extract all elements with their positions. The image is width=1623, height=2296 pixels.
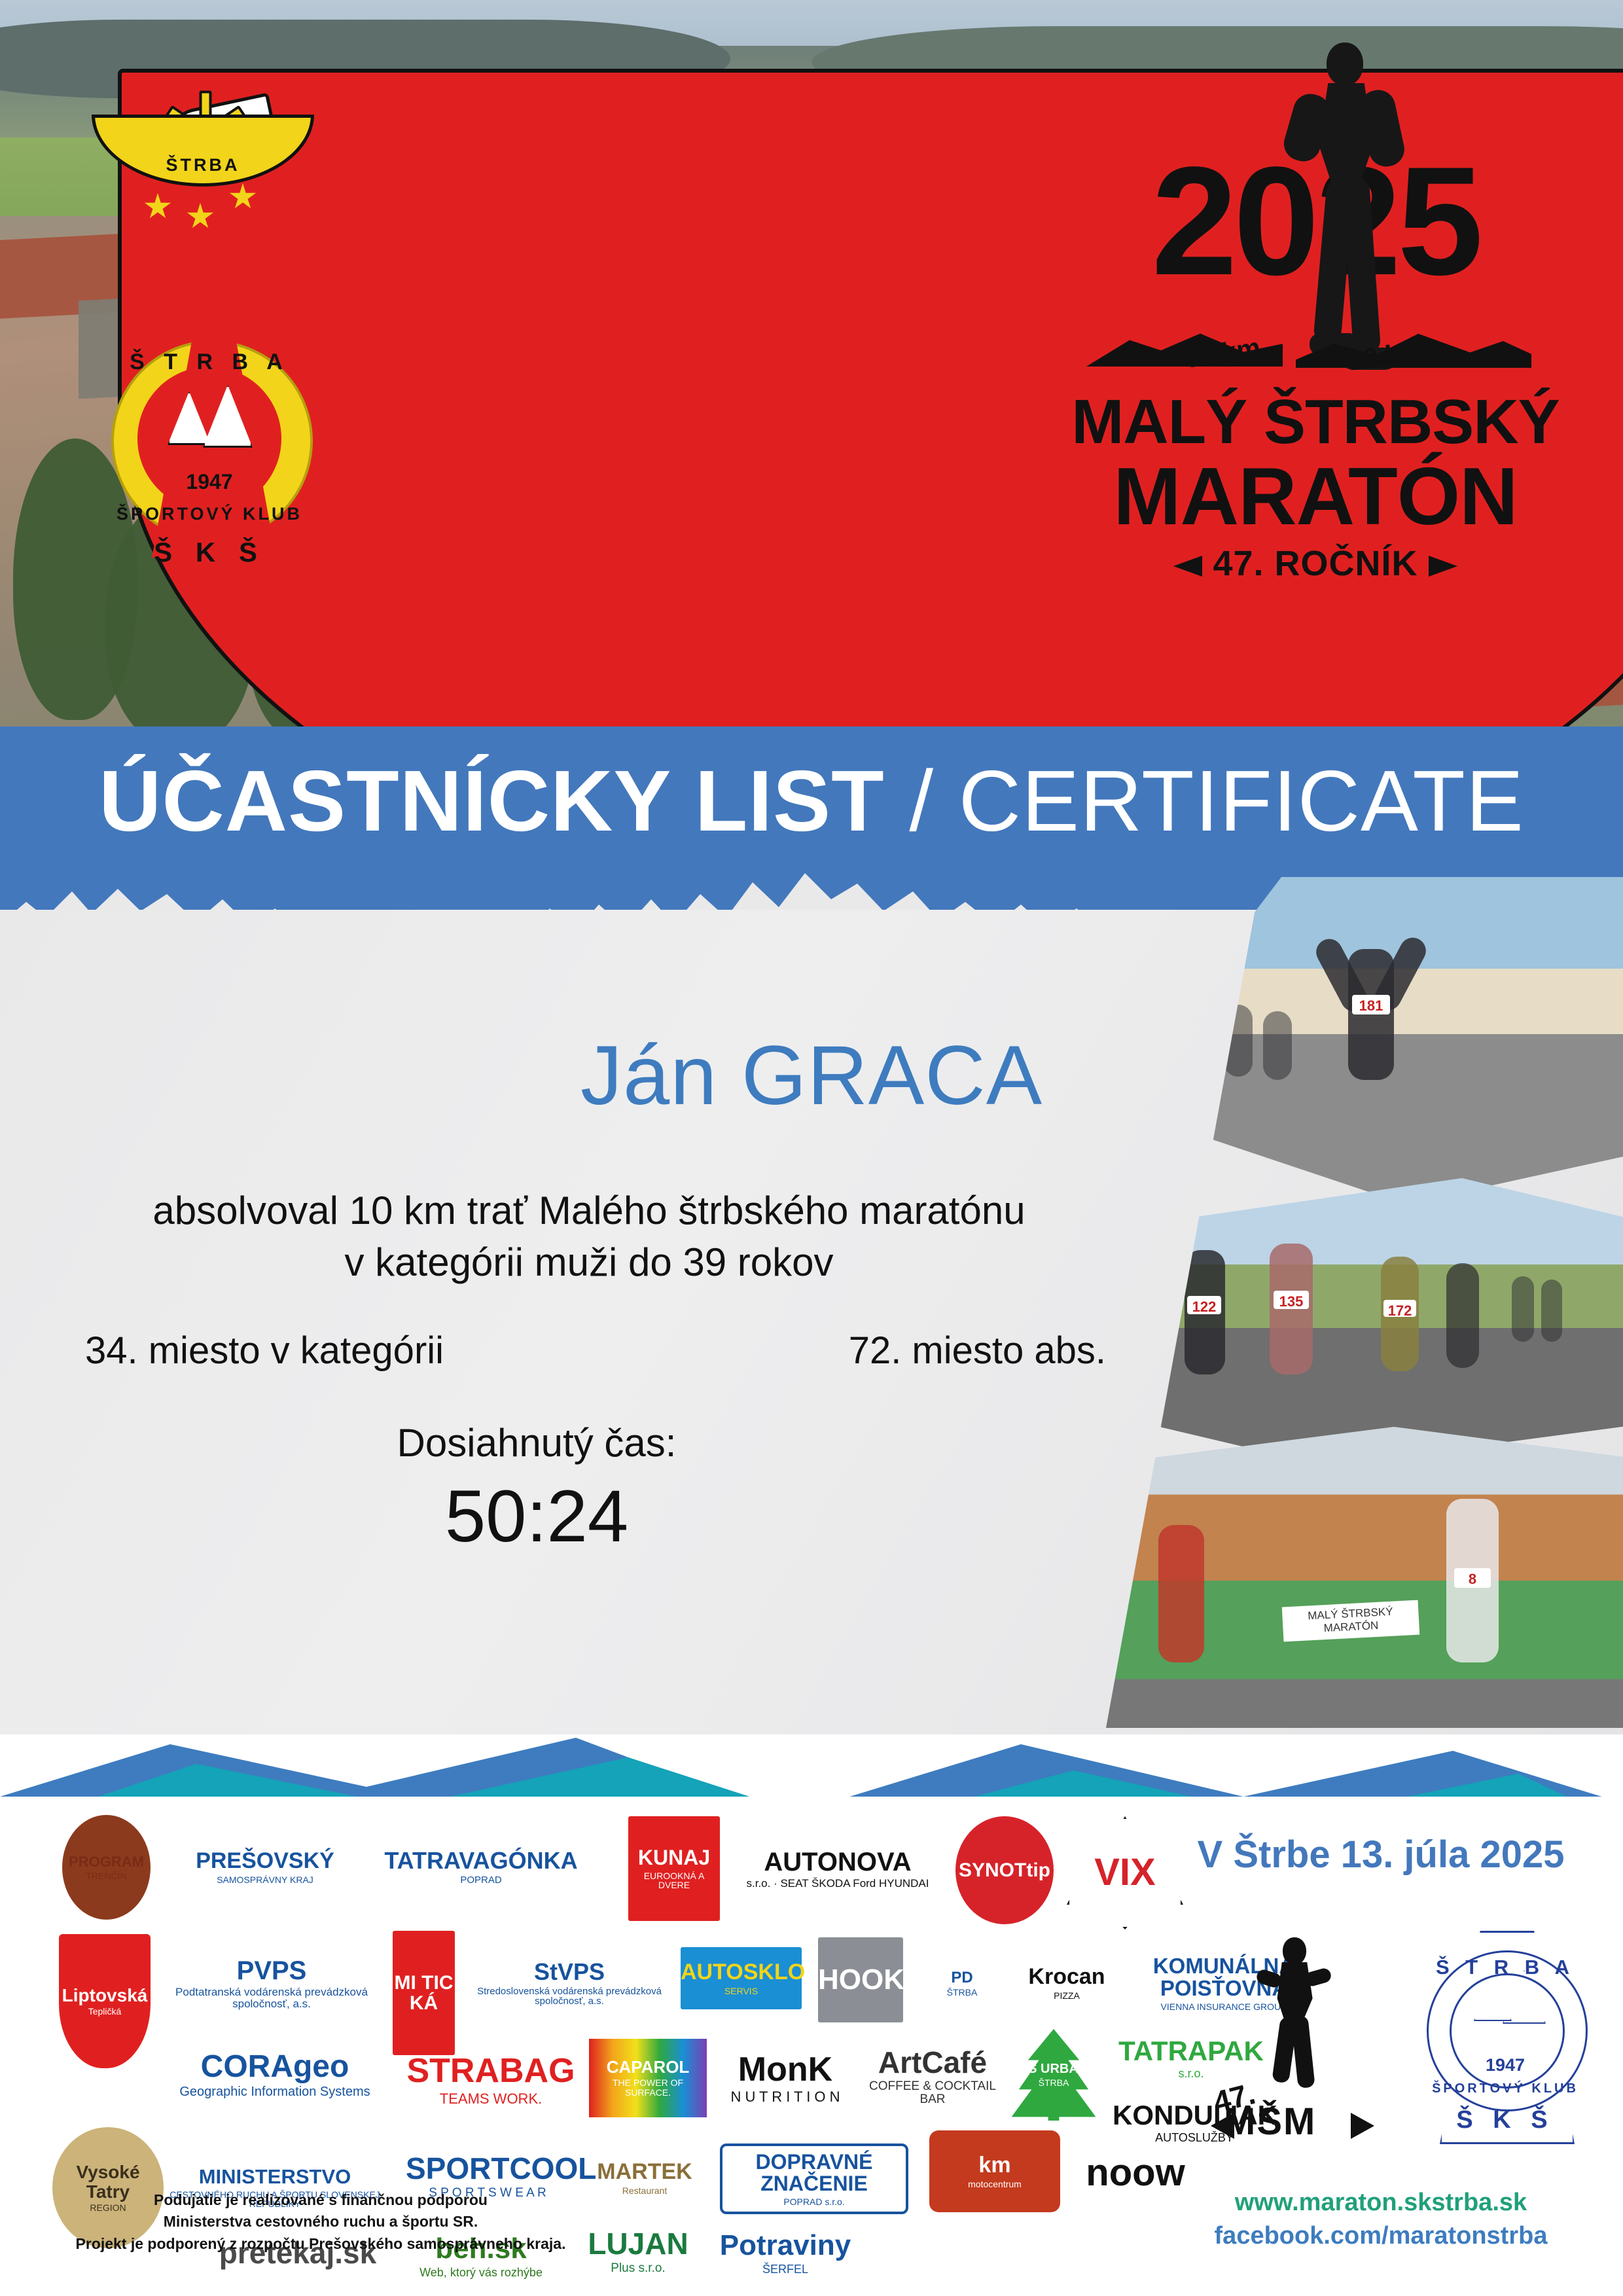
mountain-silhouette-icon [1086, 301, 1544, 373]
event-edition: 47. ROČNÍK [1067, 543, 1564, 584]
sponsor-subtitle: TRENČÍN [63, 1871, 149, 1881]
sponsor-name: MonK [715, 2052, 856, 2088]
sponsor-logo-text: STRABAGTEAMS WORK. [405, 2052, 576, 2108]
event-date: V Štrbe 13. júla 2025 [1171, 1833, 1590, 1876]
bib-number: 122 [1187, 1296, 1221, 1314]
bib-number: 181 [1352, 995, 1390, 1014]
sponsor-name: LUJAN [577, 2228, 699, 2259]
sponsor-name: Potraviny [715, 2231, 856, 2261]
sponsor-name: KUNAJ [630, 1847, 719, 1869]
certificate-description: absolvoval 10 km trať Malého štrbského m… [79, 1185, 1099, 1288]
funding-note: Podujatie je realizované s finančnou pod… [59, 2189, 582, 2255]
sponsor-name: SPORTCOOL [406, 2153, 569, 2184]
club-emblem-mid-text: ŠPORTOVÝ KLUB [105, 504, 314, 524]
sponsor-subtitle: Plus s.r.o. [577, 2262, 699, 2275]
funding-note-line-2: Ministerstva cestovného ruchu a športu S… [59, 2211, 582, 2233]
website-link[interactable]: www.maraton.skstrba.sk [1171, 2186, 1590, 2219]
right-triangle-icon [1429, 556, 1457, 577]
right-arrow-icon [1351, 2113, 1374, 2139]
sponsor-logo: MI TIC KÁ [393, 1931, 455, 2055]
event-edition-label: 47. ROČNÍK [1213, 544, 1418, 583]
sponsor-logo-text: PotravinyŠERFEL [713, 2229, 857, 2276]
sponsor-subtitle: ŠTRBA [918, 1988, 1007, 1998]
sponsor-subtitle: Geographic Information Systems [168, 2085, 382, 2099]
sponsor-name: Liptovská [60, 1986, 149, 2005]
sponsor-logo: AUTOSKLOSERVIS [681, 1947, 802, 2009]
sponsor-subtitle: s.r.o. · SEAT ŠKODA Ford HYUNDAI [741, 1878, 935, 1890]
sponsor-logo-text: KUNAJEUROOKNÁ A DVERE [628, 1846, 720, 1892]
certificate-page: ŠTART ŠTRBA Š T R B [0, 0, 1623, 2296]
sponsor-logo-text: VIX [1069, 1852, 1181, 1894]
sponsor-name: StVPS [473, 1960, 666, 1984]
sponsor-name: PD [918, 1969, 1007, 1986]
sponsor-logo-text: StVPSStredoslovenská vodárenská prevádzk… [471, 1958, 668, 2008]
sponsor-name: PVPS [165, 1957, 378, 1984]
sponsor-logo-text: PREŠOVSKÝSAMOSPRÁVNY KRAJ [167, 1848, 363, 1886]
sponsor-logo: DOPRAVNÉ ZNAČENIEPOPRAD s.r.o. [720, 2144, 908, 2214]
hero-photo-village-start: ŠTART ŠTRBA Š T R B [0, 0, 1623, 746]
sponsor-logo-text: PVPSPodtatranská vodárenská prevádzková … [164, 1956, 380, 2011]
msm-badge: 47. MŠM [1211, 1931, 1374, 2140]
page-title-bold: ÚČASTNÍCKY LIST [99, 753, 885, 849]
sponsor-logo: AUTONOVAs.r.o. · SEAT ŠKODA Ford HYUNDAI [740, 1823, 936, 1914]
sponsor-subtitle: Podtatranská vodárenská prevádzková spol… [165, 1986, 378, 2010]
sponsor-logo: VIX [1067, 1816, 1183, 1929]
sponsor-logo: LiptovskáTepličká [59, 1934, 151, 2068]
sponsor-logo: PVPSPodtatranská vodárenská prevádzková … [164, 1941, 380, 2026]
sponsor-logo: STRABAGTEAMS WORK. [406, 2045, 576, 2114]
sponsor-name: SYNOTtip [957, 1860, 1052, 1881]
sponsor-subtitle: Restaurant [584, 2186, 705, 2196]
sponsor-logo: kmmotocentrum [929, 2130, 1060, 2212]
sponsor-name: PREŠOVSKÝ [168, 1850, 362, 1873]
sponsor-logo-text: MonKN U T R I T I O N [713, 2051, 857, 2106]
sponsor-name: ArtCafé [865, 2047, 1000, 2078]
description-line-2: v kategórii muži do 39 rokov [79, 1236, 1099, 1288]
funding-note-line-1: Podujatie je realizované s finančnou pod… [59, 2189, 582, 2211]
place-absolute: 72. miesto abs. [849, 1329, 1106, 1372]
sks-stamp-bottom: Š K Š [1414, 2106, 1597, 2134]
bib-number: 8 [1454, 1568, 1491, 1588]
crest-ribbon-label: ŠTRBA [95, 155, 311, 175]
sks-stamp-mid: ŠPORTOVÝ KLUB [1414, 2081, 1597, 2096]
club-emblem-top-text: Š T R B A [105, 350, 314, 375]
sponsor-logo: TATRAVAGÓNKAPOPRAD [373, 1831, 589, 1903]
page-title: ÚČASTNÍCKY LIST / CERTIFICATE [0, 758, 1623, 844]
sponsor-logo: SYNOTtip [955, 1816, 1054, 1924]
bib-number: 135 [1274, 1291, 1309, 1309]
sponsor-logo: PROGRAMTRENČÍN [62, 1815, 151, 1920]
sponsor-name: HOOK [818, 1965, 903, 1995]
sponsor-subtitle: motocentrum [931, 2179, 1059, 2189]
sponsor-logo-text: DOPRAVNÉ ZNAČENIEPOPRAD s.r.o. [722, 2150, 906, 2208]
runner-icon [1257, 1937, 1335, 2088]
event-logo: 2025 31 km 10 km MALÝ ŠTRBSKÝ MARATÓN 47… [1067, 33, 1564, 609]
sponsor-logo: LUJANPlus s.r.o. [576, 2215, 700, 2287]
funding-note-line-3: Projekt je podporený z rozpočtu Prešovsk… [59, 2233, 582, 2255]
sponsor-name: CORAgeo [168, 2051, 382, 2083]
page-title-separator: / [885, 753, 959, 849]
sponsor-name: MI TIC KÁ [394, 1973, 454, 2014]
sponsor-logo-text: PROGRAMTRENČÍN [62, 1853, 151, 1882]
sponsor-logo: ArtCaféCOFFEE & COCKTAIL BAR [864, 2036, 1001, 2117]
sks-stamp-top: Š T R B A [1414, 1956, 1597, 1979]
sponsor-subtitle: THE POWER OF SURFACE. [590, 2078, 705, 2097]
club-emblem-year: 1947 [105, 470, 314, 494]
sponsor-name: km [931, 2154, 1059, 2178]
sponsor-name: DOPRAVNÉ ZNAČENIE [724, 2151, 904, 2195]
sponsor-subtitle: PIZZA [1022, 1991, 1111, 2001]
sponsor-name: AUTOSKLO [681, 1961, 802, 1984]
sks-stamp-year: 1947 [1414, 2055, 1597, 2075]
sponsor-logo-text: AUTOSKLOSERVIS [679, 1960, 803, 1997]
bib-number: 172 [1383, 1300, 1416, 1317]
sponsor-logo-text: kmmotocentrum [929, 2153, 1060, 2190]
sponsor-logo-text: CORAgeoGeographic Information Systems [167, 2049, 383, 2100]
sponsor-logo: PDŠTRBA [916, 1934, 1008, 2032]
sponsor-logo: KrocanPIZZA [1021, 1934, 1113, 2032]
sponsor-logo-text: LiptovskáTepličká [59, 1984, 151, 2018]
sponsor-name: MARTEK [584, 2161, 705, 2184]
sponsor-name: MINISTERSTVO [165, 2166, 385, 2188]
finish-banner-text: MALÝ ŠTRBSKÝ MARATÓN [1282, 1600, 1419, 1642]
sponsor-logo: PREŠOVSKÝSAMOSPRÁVNY KRAJ [167, 1828, 363, 1907]
sponsor-logo-text: TATRAVAGÓNKAPOPRAD [373, 1847, 589, 1887]
page-title-light: CERTIFICATE [959, 753, 1524, 849]
sponsor-subtitle: N U T R I T I O N [715, 2089, 856, 2104]
sponsor-name: Krocan [1022, 1965, 1111, 1989]
sponsor-subtitle: Stredoslovenská vodárenská prevádzková s… [473, 1986, 666, 2007]
sponsor-name: AUTONOVA [741, 1848, 935, 1876]
sponsor-name: CAPAROL [590, 2058, 705, 2076]
sponsor-logo: HOOK [818, 1937, 903, 2022]
sponsor-subtitle: SERVIS [681, 1986, 802, 1996]
sponsor-logo-text: AUTONOVAs.r.o. · SEAT ŠKODA Ford HYUNDAI [740, 1847, 936, 1891]
place-in-category: 34. miesto v kategórii [85, 1329, 444, 1372]
sponsor-logo: StVPSStredoslovenská vodárenská prevádzk… [471, 1937, 668, 2029]
sponsor-subtitle: EUROOKNÁ A DVERE [630, 1871, 719, 1890]
sponsor-logo-text: HOOK [817, 1964, 904, 1996]
sponsor-name: VIX [1071, 1853, 1179, 1893]
time-label: Dosiahnutý čas: [79, 1420, 995, 1465]
sponsor-logo: PotravinyŠERFEL [713, 2219, 857, 2287]
sponsor-logo: PS URBÁRŠTRBA [1008, 2029, 1099, 2121]
sponsor-name: TATRAVAGÓNKA [374, 1848, 588, 1873]
left-triangle-icon [1173, 556, 1202, 577]
sponsor-logo-text: LUJANPlus s.r.o. [576, 2227, 700, 2276]
sponsor-logo: KUNAJEUROOKNÁ A DVERE [628, 1816, 720, 1921]
event-title-line1: MALÝ ŠTRBSKÝ [1067, 386, 1564, 458]
sponsor-subtitle: POPRAD [374, 1875, 588, 1886]
msm-label: MŠM [1224, 2100, 1316, 2144]
description-line-1: absolvoval 10 km trať Malého štrbského m… [79, 1185, 1099, 1236]
sponsor-logo: MonKN U T R I T I O N [713, 2042, 857, 2114]
contact-links: www.maraton.skstrba.sk facebook.com/mara… [1171, 2186, 1590, 2253]
sponsor-logo: CAPAROLTHE POWER OF SURFACE. [589, 2039, 707, 2117]
sponsor-logo-text: PS URBÁRŠTRBA [1008, 2061, 1099, 2089]
facebook-link[interactable]: facebook.com/maratonstrba [1171, 2219, 1590, 2253]
sponsor-subtitle: ŠERFEL [715, 2263, 856, 2276]
sponsor-logo-text: KrocanPIZZA [1021, 1964, 1113, 2001]
sponsor-subtitle: TEAMS WORK. [406, 2091, 575, 2106]
sponsor-name: STRABAG [406, 2053, 575, 2089]
sponsor-logo-text: PDŠTRBA [916, 1968, 1008, 1999]
sponsor-logo: CORAgeoGeographic Information Systems [167, 2039, 383, 2111]
sponsor-logo-text: MI TIC KÁ [393, 1971, 455, 2015]
sponsor-subtitle: COFFEE & COCKTAIL BAR [865, 2080, 1000, 2106]
sks-strba-club-emblem: Š T R B A 1947 ŠPORTOVÝ KLUB Š K Š [105, 321, 314, 576]
sponsor-subtitle: POPRAD s.r.o. [724, 2197, 904, 2207]
club-emblem-bottom-text: Š K Š [105, 537, 314, 568]
time-value: 50:24 [79, 1474, 995, 1558]
sponsor-logo-text: SYNOTtip [955, 1859, 1054, 1882]
sponsor-name: PROGRAM [63, 1854, 149, 1869]
event-title-line2: MARATÓN [1067, 450, 1564, 543]
sponsor-name: PS URBÁR [1009, 2062, 1098, 2076]
sponsor-subtitle: Tepličká [60, 2007, 149, 2017]
placement-row: 34. miesto v kategórii 72. miesto abs. [85, 1329, 1106, 1372]
sponsor-subtitle: SAMOSPRÁVNY KRAJ [168, 1875, 362, 1885]
sponsor-subtitle: Web, ktorý vás rozhýbe [407, 2267, 555, 2279]
sponsor-logo-text: ArtCaféCOFFEE & COCKTAIL BAR [864, 2045, 1001, 2108]
sponsor-subtitle: ŠTRBA [1009, 2078, 1098, 2088]
sks-stamp: Š T R B A 1947 ŠPORTOVÝ KLUB Š K Š [1414, 1924, 1597, 2147]
sponsor-logo-text: CAPAROLTHE POWER OF SURFACE. [589, 2057, 707, 2099]
sponsor-logo-text: MARTEKRestaurant [582, 2159, 707, 2197]
